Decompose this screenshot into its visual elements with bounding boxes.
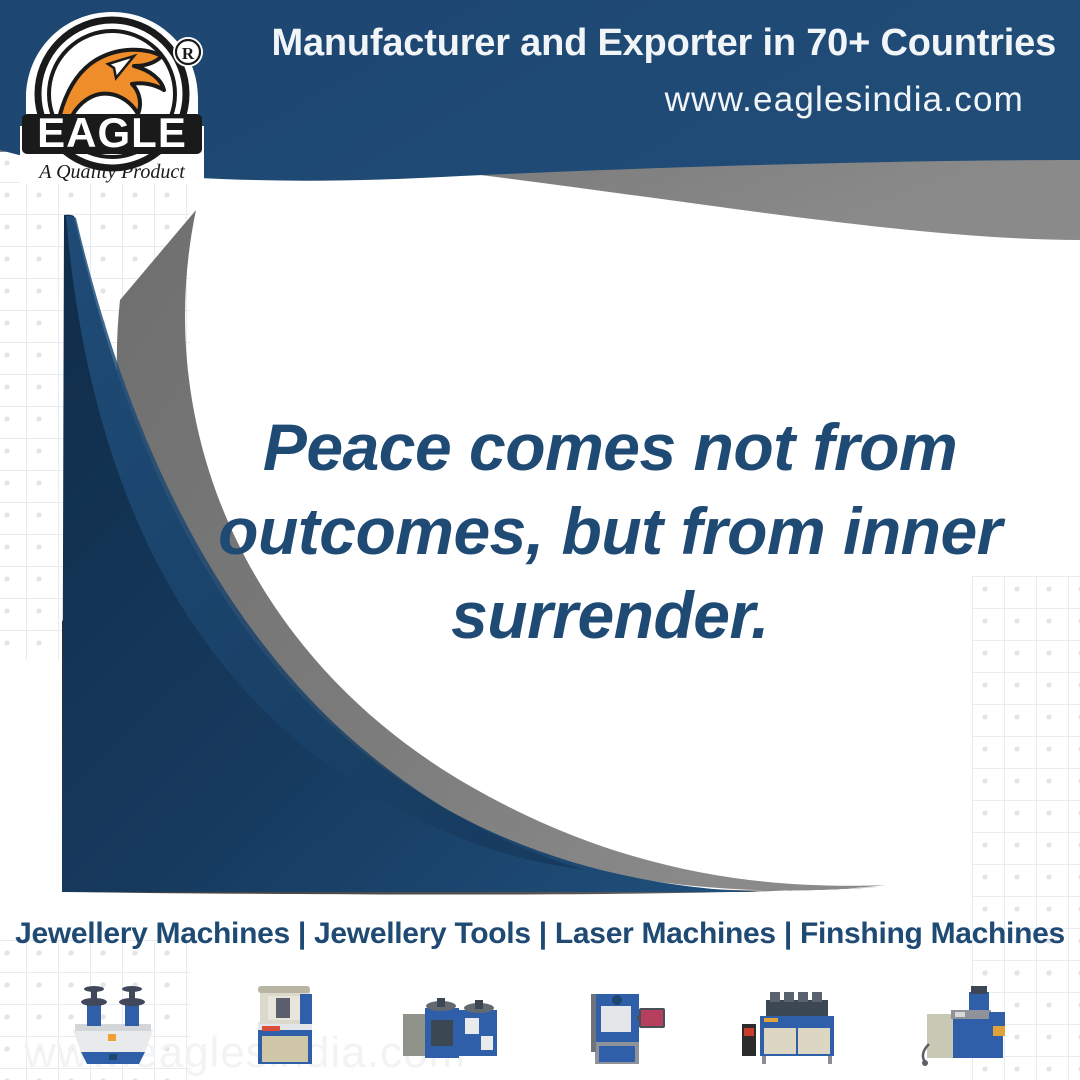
product-double-head-polishing-machine bbox=[53, 982, 173, 1068]
product-categories-line: Jewellery Machines | Jewellery Tools | L… bbox=[0, 917, 1080, 951]
product-image-strip bbox=[0, 968, 1080, 1068]
logo-wordmark: EAGLE bbox=[37, 109, 187, 156]
promotional-poster: EAGLE A Quality Product R Manufacturer a… bbox=[0, 0, 1080, 1080]
eagle-logo: EAGLE A Quality Product R bbox=[12, 8, 212, 194]
product-wire-drawing-machine bbox=[907, 982, 1027, 1068]
product-twin-barrel-finishing-machine bbox=[395, 982, 515, 1068]
product-multi-head-chain-machine bbox=[736, 982, 856, 1068]
header-tagline: Manufacturer and Exporter in 70+ Countri… bbox=[216, 22, 1056, 66]
product-laser-marking-machine bbox=[565, 982, 685, 1068]
logo-tagline: A Quality Product bbox=[37, 161, 185, 183]
registered-trademark-icon: R bbox=[182, 44, 195, 63]
quote-text: Peace comes not from outcomes, but from … bbox=[210, 406, 1010, 657]
header-text-block: Manufacturer and Exporter in 70+ Countri… bbox=[216, 22, 1056, 120]
header-website[interactable]: www.eaglesindia.com bbox=[216, 80, 1056, 120]
product-hydraulic-press-machine bbox=[224, 982, 344, 1068]
